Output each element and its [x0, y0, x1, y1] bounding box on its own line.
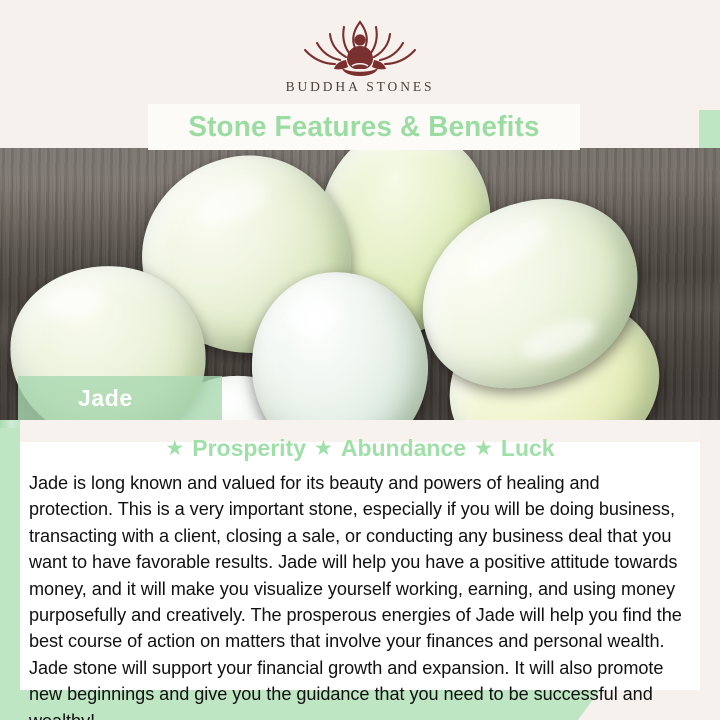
page-header: BUDDHA STONES — [0, 0, 720, 110]
content-panel: ★ Prosperity ★ Abundance ★ Luck Jade is … — [20, 420, 700, 690]
star-icon: ★ — [474, 438, 493, 459]
brand-name: BUDDHA STONES — [286, 79, 435, 95]
star-icon: ★ — [314, 438, 333, 459]
stone-name: Jade — [78, 385, 133, 412]
keyword-luck: Luck — [501, 435, 555, 462]
stone-photo: Jade — [0, 148, 720, 420]
star-icon: ★ — [165, 438, 184, 459]
keyword-list: ★ Prosperity ★ Abundance ★ Luck — [20, 430, 700, 466]
stone-name-band: Jade — [18, 376, 222, 420]
keyword-abundance: Abundance — [341, 435, 466, 462]
page-title: Stone Features & Benefits — [188, 111, 539, 144]
description-text: Jade is long known and valued for its be… — [29, 470, 682, 720]
infographic-page: BUDDHA STONES Stone Features & Benefits … — [0, 0, 720, 720]
brand-logo: BUDDHA STONES — [286, 16, 435, 95]
keyword-prosperity: Prosperity — [192, 435, 306, 462]
lotus-meditation-icon — [297, 16, 423, 78]
title-banner: Stone Features & Benefits — [148, 104, 580, 150]
